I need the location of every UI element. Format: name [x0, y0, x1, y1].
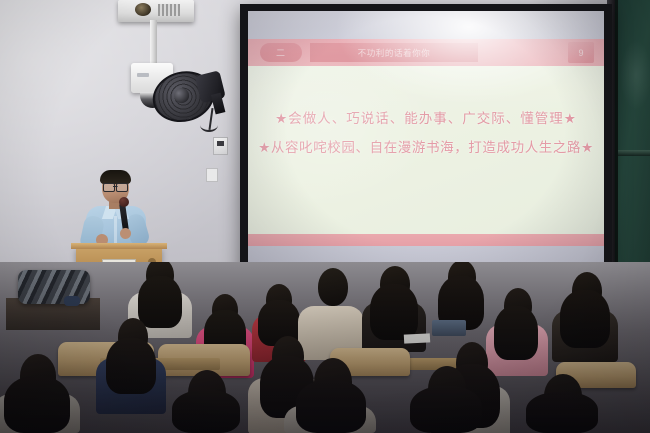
slide-content-text: ★会做人、巧说话、能办事、广交际、懂管理★ ★从容叱咤校园、自在漫游书海，打造成…: [248, 107, 604, 156]
fan-cord-loop: [200, 118, 218, 132]
slide-chapter-number: 二: [276, 46, 286, 59]
slide-line-1: ★会做人、巧说话、能办事、广交际、懂管理★: [248, 107, 604, 127]
lectern-top: [71, 243, 167, 249]
student-hair: [410, 386, 482, 433]
paper-sheet: [404, 333, 430, 343]
ceiling-projector: [118, 0, 194, 22]
microphone-head: [119, 197, 129, 207]
projector-vent: [158, 4, 180, 16]
wall-switch[interactable]: [213, 137, 228, 155]
slide-footer-bar: [248, 234, 604, 246]
lecture-hall-photo: 二 不功利的话着你你 9 ★会做人、巧说话、能办事、广交际、懂管理★ ★从容叱咤…: [0, 0, 650, 433]
chalk-rail: [618, 150, 650, 156]
projector-mount-pole: [150, 20, 157, 68]
student-front-far-right: [512, 374, 608, 433]
slide-title-bar: 不功利的话着你你: [310, 43, 478, 62]
audience-area: [0, 262, 650, 433]
switch-rocker: [217, 141, 224, 146]
student-hair: [370, 284, 418, 340]
screen-surface: 二 不功利的话着你你 9 ★会做人、巧说话、能办事、广交际、懂管理★ ★从容叱咤…: [248, 11, 604, 279]
student-hair: [296, 380, 366, 433]
slide-chapter-badge: 二: [260, 43, 302, 62]
student-hair: [106, 338, 156, 394]
presenter: [80, 172, 154, 252]
slide-page-number: 9: [578, 48, 583, 58]
glasses-icon: [103, 183, 128, 190]
student-front-right: [398, 366, 492, 433]
student-front-left: [0, 354, 80, 433]
green-blackboard: [614, 0, 650, 292]
student-far-right-dark: [552, 272, 618, 362]
student-hair: [4, 376, 70, 433]
student-hair: [172, 390, 240, 433]
slide-line-2: ★从容叱咤校园、自在漫游书海，打造成功人生之路★: [248, 136, 604, 156]
projection-screen: 二 不功利的话着你你 9 ★会做人、巧说话、能办事、广交际、懂管理★ ★从容叱咤…: [240, 4, 612, 286]
student-front-ponytail: [284, 358, 376, 433]
laptop: [432, 320, 466, 336]
backpack-strap: [64, 296, 80, 306]
backpack: [18, 270, 90, 304]
projector-lens-icon: [135, 3, 151, 16]
student-hair: [526, 392, 598, 433]
student-head: [318, 268, 348, 306]
student-hair: [560, 290, 610, 348]
presenter-hair: [100, 170, 131, 184]
presenter-right-hand: [120, 228, 131, 239]
chalk-smudge: [620, 40, 650, 110]
student-navy-print: [96, 318, 166, 414]
student-front-center: [160, 370, 250, 433]
slide-corner-badge: 9: [568, 42, 594, 63]
wall-outlet: [206, 168, 218, 182]
presentation-slide: 二 不功利的话着你你 9 ★会做人、巧说话、能办事、广交际、懂管理★ ★从容叱咤…: [248, 11, 604, 279]
slide-title-text: 不功利的话着你你: [358, 47, 431, 59]
slide-top-band: [248, 11, 604, 39]
